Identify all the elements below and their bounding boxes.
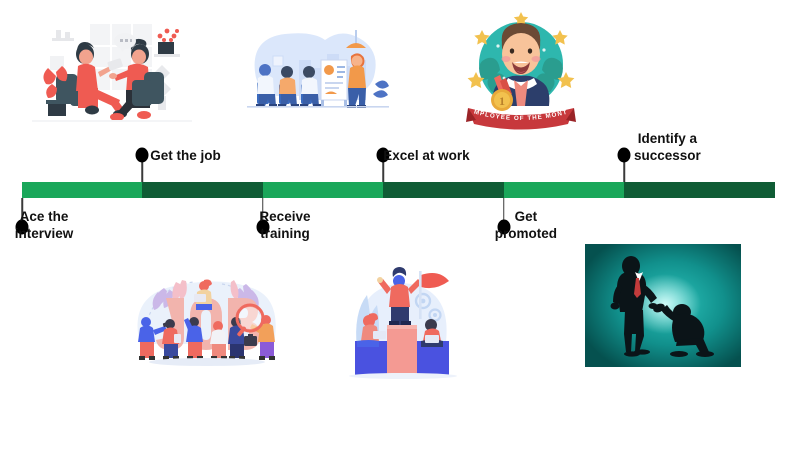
training-illustration: [243, 16, 393, 129]
milestone-label-6: Identify a successor: [634, 130, 701, 164]
helping-hand-photo: [585, 244, 741, 367]
interview-illustration: [32, 10, 192, 128]
timeline-segment-5: [504, 182, 624, 198]
timeline-infographic: 1 EMPLOYEE OF THE MONTH Ace the intervie…: [0, 0, 795, 450]
timeline-segment-1: [22, 182, 142, 198]
employee-of-the-month-badge: 1 EMPLOYEE OF THE MONTH: [458, 6, 584, 130]
job-search-illustration: [118, 258, 296, 370]
timeline-segment-6: [624, 182, 775, 198]
timeline-segment-4: [383, 182, 503, 198]
timeline-segment-3: [263, 182, 383, 198]
milestone-dot-6[interactable]: [618, 148, 631, 163]
timeline-segment-2: [142, 182, 262, 198]
podium-winner-illustration: [343, 257, 463, 379]
milestone-label-4: Excel at work: [383, 147, 469, 164]
milestone-dot-2[interactable]: [136, 148, 149, 163]
milestone-label-1: Ace the interview: [15, 208, 74, 242]
milestone-label-3: Receive training: [259, 208, 310, 242]
milestone-label-2: Get the job: [150, 147, 221, 164]
timeline-bar: [22, 182, 775, 198]
svg-text:1: 1: [499, 94, 505, 108]
milestone-label-5: Get promoted: [495, 208, 557, 242]
